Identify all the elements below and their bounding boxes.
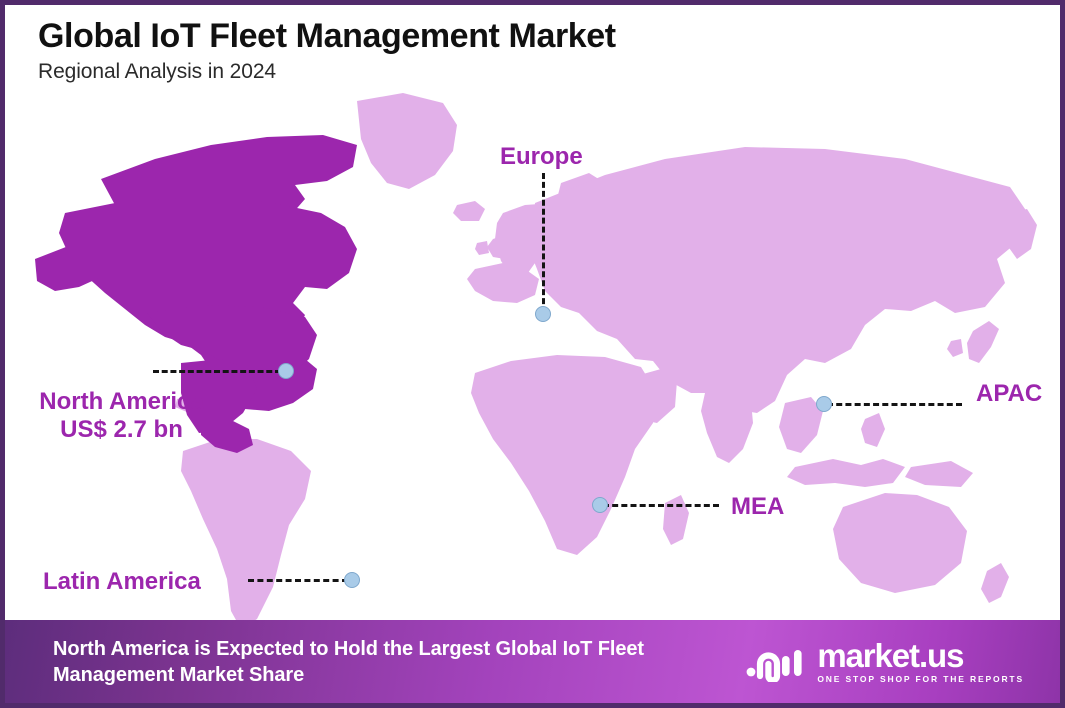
leader-line-europe (542, 173, 545, 313)
australia-shape (833, 493, 967, 593)
ireland-shape (475, 241, 489, 255)
region-label-mea: MEA (731, 493, 784, 521)
market-us-logo-icon (746, 642, 808, 682)
philippines-shape (861, 413, 885, 447)
page-title: Global IoT Fleet Management Market (38, 17, 898, 55)
footer-callout-text: North America is Expected to Hold the La… (53, 636, 746, 688)
region-label-north-america: North America US$ 2.7 bn (19, 388, 224, 444)
logo-wordmark: market.us (817, 639, 1024, 672)
market-us-logo[interactable]: market.us ONE STOP SHOP FOR THE REPORTS (746, 639, 1038, 684)
japan-shape (967, 321, 999, 363)
map-marker-north-america[interactable] (278, 363, 294, 379)
indonesia-shape (787, 459, 905, 487)
logo-bar-2 (794, 650, 802, 676)
korea-shape (947, 339, 963, 357)
kamchatka-shape (1005, 209, 1037, 259)
leader-line-latin-america (248, 579, 348, 582)
new-zealand-shape (981, 563, 1009, 603)
india-shape (701, 389, 753, 463)
greenland-shape (357, 93, 457, 189)
footer-banner: North America is Expected to Hold the La… (5, 620, 1060, 703)
new-guinea-shape (905, 461, 973, 487)
map-marker-latin-america[interactable] (344, 572, 360, 588)
leader-line-apac (827, 403, 962, 406)
infographic-canvas: Global IoT Fleet Management Market Regio… (0, 0, 1065, 708)
africa-shape (471, 355, 657, 555)
map-marker-apac[interactable] (816, 396, 832, 412)
logo-dot (747, 667, 756, 676)
world-map-container: North America US$ 2.7 bn Europe APAC MEA… (5, 63, 1060, 623)
map-marker-mea[interactable] (592, 497, 608, 513)
iceland-shape (453, 201, 485, 221)
logo-bar-1 (782, 656, 790, 676)
logo-tagline: ONE STOP SHOP FOR THE REPORTS (817, 675, 1024, 684)
madagascar-shape (663, 495, 689, 545)
map-marker-europe[interactable] (535, 306, 551, 322)
logo-text-block: market.us ONE STOP SHOP FOR THE REPORTS (817, 639, 1024, 684)
region-label-apac: APAC (976, 380, 1042, 408)
leader-line-north-america (153, 370, 281, 373)
logo-arc-a (760, 655, 777, 680)
region-label-europe: Europe (500, 143, 583, 171)
region-label-latin-america: Latin America (43, 568, 201, 596)
leader-line-mea (603, 504, 719, 507)
